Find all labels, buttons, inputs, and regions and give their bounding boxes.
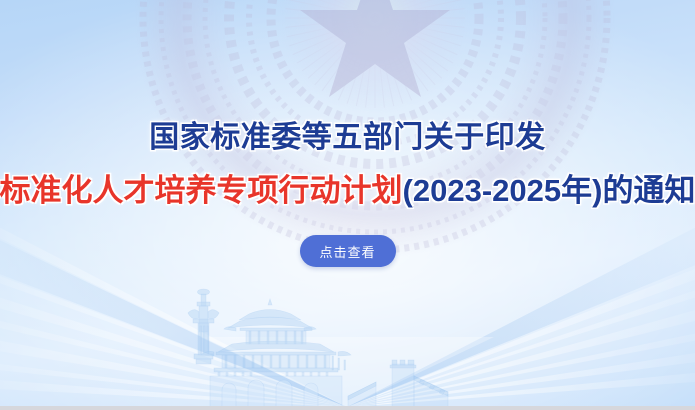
banner-title-suffix: (2023-2025年)的通知 [403,173,695,208]
banner-content: 国家标准委等五部门关于印发 标准化人才培养专项行动计划(2023-2025年)的… [0,0,695,410]
banner-title-line-2: 标准化人才培养专项行动计划(2023-2025年)的通知 [0,175,695,206]
banner-title-line-1: 国家标准委等五部门关于印发 [149,123,546,153]
banner-title-highlight: 标准化人才培养专项行动计划 [0,173,403,208]
click-to-view-button[interactable]: 点击查看 [300,235,396,267]
notice-banner: 国家标准委等五部门关于印发 标准化人才培养专项行动计划(2023-2025年)的… [0,0,695,410]
